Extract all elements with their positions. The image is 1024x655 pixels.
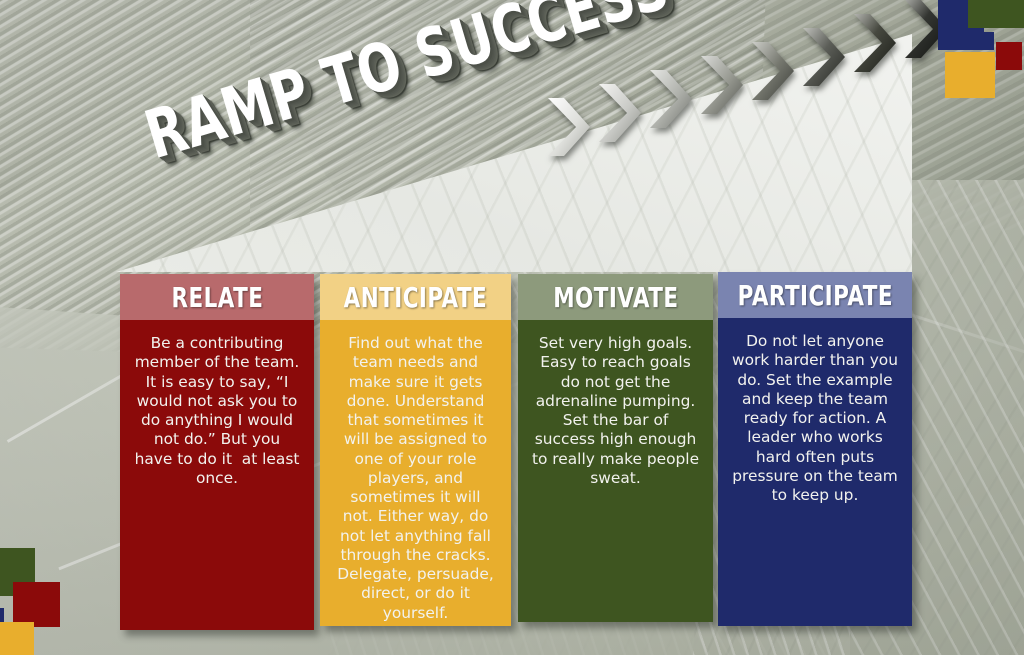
card-relate-header: RELATE — [120, 274, 314, 320]
deco-block-gold-bottom — [0, 622, 34, 655]
card-motivate-heading: MOTIVATE — [553, 281, 678, 313]
deco-block-navy-bottom — [0, 608, 4, 622]
column-cards: RELATE Be a contributing member of the t… — [0, 0, 1024, 655]
card-participate-heading: PARTICIPATE — [737, 279, 892, 311]
card-anticipate-header: ANTICIPATE — [320, 274, 511, 320]
card-participate-header: PARTICIPATE — [718, 272, 912, 318]
slide-canvas: RAMP TO SUCCESS RELATE Be a contributing… — [0, 0, 1024, 655]
card-anticipate-heading: ANTICIPATE — [344, 281, 487, 313]
card-relate-body: Be a contributing member of the team. It… — [120, 320, 314, 498]
deco-block-darkred-bottom — [13, 582, 60, 627]
card-motivate[interactable]: MOTIVATE Set very high goals. Easy to re… — [518, 274, 713, 622]
deco-block-olive-top — [968, 0, 1024, 28]
deco-block-gold-top — [945, 52, 995, 98]
card-anticipate-body: Find out what the team needs and make su… — [320, 320, 511, 626]
card-participate[interactable]: PARTICIPATE Do not let anyone work harde… — [718, 272, 912, 626]
card-participate-body: Do not let anyone work harder than you d… — [718, 318, 912, 515]
card-motivate-header: MOTIVATE — [518, 274, 713, 320]
card-relate[interactable]: RELATE Be a contributing member of the t… — [120, 274, 314, 630]
card-motivate-body: Set very high goals. Easy to reach goals… — [518, 320, 713, 498]
card-anticipate[interactable]: ANTICIPATE Find out what the team needs … — [320, 274, 511, 626]
deco-block-navy-top-arm — [938, 32, 994, 50]
card-relate-heading: RELATE — [171, 281, 263, 313]
deco-block-darkred-top — [996, 42, 1022, 70]
